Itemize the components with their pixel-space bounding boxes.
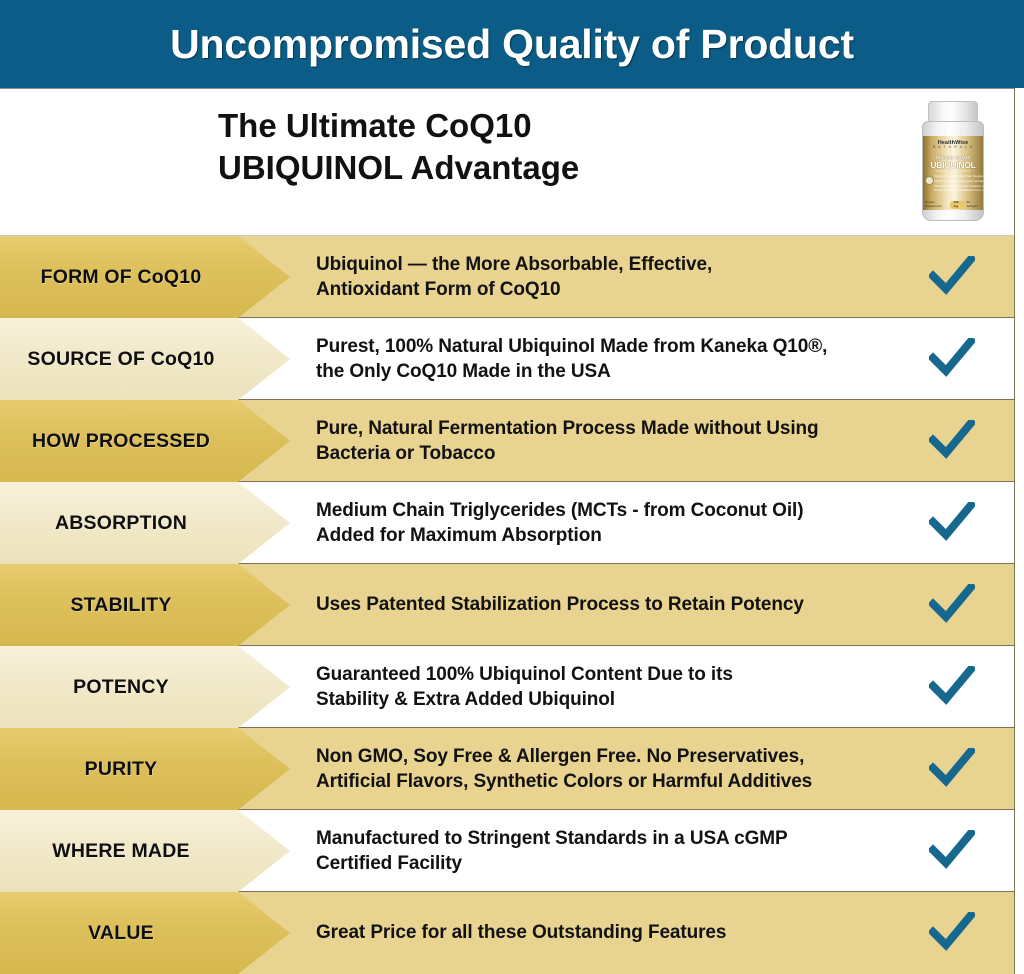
feature-description-line: Manufactured to Stringent Standards in a… [316, 826, 904, 851]
feature-description-line: Purest, 100% Natural Ubiquinol Made from… [316, 334, 904, 359]
label-bullet: Powerful Active Antioxidant Form of CoQ1… [934, 188, 980, 193]
feature-description-line: Pure, Natural Fermentation Process Made … [316, 416, 904, 441]
label-count: 60 Softgels [966, 201, 981, 208]
label-supplement-facts: Dietary Supplement [925, 201, 950, 208]
feature-description-line: Uses Patented Stabilization Process to R… [316, 592, 904, 617]
feature-label: SOURCE OF CoQ10 [27, 348, 214, 371]
feature-label: VALUE [88, 922, 154, 945]
feature-description-line: Artificial Flavors, Synthetic Colors or … [316, 769, 904, 794]
feature-label: HOW PROCESSED [32, 430, 210, 453]
check-mark-icon [922, 810, 982, 892]
feature-description-line: Ubiquinol — the More Absorbable, Effecti… [316, 252, 904, 277]
label-product-name: Ultimate CoQ10 UBIQUINOL Ultimate Absorp… [923, 156, 983, 174]
feature-description: Manufactured to Stringent Standards in a… [316, 810, 904, 892]
feature-description-line: Bacteria or Tobacco [316, 441, 904, 466]
feature-description: Medium Chain Triglycerides (MCTs - from … [316, 482, 904, 564]
page-title: Uncompromised Quality of Product [170, 24, 854, 65]
check-mark-icon [922, 728, 982, 810]
feature-description: Guaranteed 100% Ubiquinol Content Due to… [316, 646, 904, 728]
feature-description: Great Price for all these Outstanding Fe… [316, 892, 904, 974]
label-bullet: MCTs for Further Absorption Enhancement [934, 179, 980, 184]
feature-label: PURITY [85, 758, 158, 781]
feature-row: PURITY Non GMO, Soy Free & Allergen Free… [0, 728, 1024, 810]
feature-row: ABSORPTION Medium Chain Triglycerides (M… [0, 482, 1024, 564]
feature-description-line: Added for Maximum Absorption [316, 523, 904, 548]
feature-description-line: Antioxidant Form of CoQ10 [316, 277, 904, 302]
feature-description-line: Medium Chain Triglycerides (MCTs - from … [316, 498, 904, 523]
feature-description-line: Certified Facility [316, 851, 904, 876]
feature-tag: PURITY [0, 728, 290, 810]
check-mark-icon [922, 482, 982, 564]
feature-row: HOW PROCESSED Pure, Natural Fermentation… [0, 400, 1024, 482]
feature-row: FORM OF CoQ10 Ubiquinol — the More Absor… [0, 236, 1024, 318]
feature-tag: POTENCY [0, 646, 290, 728]
check-mark-icon [922, 892, 982, 974]
feature-row: VALUE Great Price for all these Outstand… [0, 892, 1024, 974]
label-strength: 100 mg [950, 201, 966, 209]
feature-tag: FORM OF CoQ10 [0, 236, 290, 318]
feature-description-line: the Only CoQ10 Made in the USA [316, 359, 904, 384]
feature-tag: HOW PROCESSED [0, 400, 290, 482]
hero-section: The Ultimate CoQ10 UBIQUINOL Advantage H… [0, 88, 1024, 236]
feature-description-line: Stability & Extra Added Ubiquinol [316, 687, 904, 712]
label-bullets: Higher Bioavailability Than Regular CoQ1… [934, 174, 980, 193]
supplement-bottle-icon: HealthWise N A T U R A L S Ultimate CoQ1… [920, 101, 986, 223]
bottle-label: HealthWise N A T U R A L S Ultimate CoQ1… [923, 136, 983, 210]
feature-label: WHERE MADE [52, 840, 189, 863]
label-brand: HealthWise N A T U R A L S [923, 140, 983, 150]
feature-rows: FORM OF CoQ10 Ubiquinol — the More Absor… [0, 236, 1024, 974]
feature-description: Pure, Natural Fermentation Process Made … [316, 400, 904, 482]
hero-title-line-2: UBIQUINOL Advantage [218, 147, 858, 189]
feature-tag: ABSORPTION [0, 482, 290, 564]
infographic-root: Uncompromised Quality of Product The Ult… [0, 0, 1024, 974]
feature-description: Non GMO, Soy Free & Allergen Free. No Pr… [316, 728, 904, 810]
feature-label: POTENCY [73, 676, 169, 699]
check-mark-icon [922, 400, 982, 482]
feature-label: ABSORPTION [55, 512, 187, 535]
bottle-cap [928, 101, 978, 123]
product-bottle-image: HealthWise N A T U R A L S Ultimate CoQ1… [908, 97, 1004, 229]
feature-description: Purest, 100% Natural Ubiquinol Made from… [316, 318, 904, 400]
feature-label: FORM OF CoQ10 [41, 266, 202, 289]
feature-tag: STABILITY [0, 564, 290, 646]
check-mark-icon [922, 318, 982, 400]
feature-row: WHERE MADE Manufactured to Stringent Sta… [0, 810, 1024, 892]
feature-label: STABILITY [70, 594, 171, 617]
feature-description-line: Great Price for all these Outstanding Fe… [316, 920, 904, 945]
check-mark-icon [922, 564, 982, 646]
feature-row: STABILITY Uses Patented Stabilization Pr… [0, 564, 1024, 646]
feature-tag: WHERE MADE [0, 810, 290, 892]
label-footer: Dietary Supplement 100 mg 60 Softgels [925, 201, 981, 209]
feature-description-line: Guaranteed 100% Ubiquinol Content Due to… [316, 662, 904, 687]
bottle-body: HealthWise N A T U R A L S Ultimate CoQ1… [922, 121, 984, 221]
feature-tag: SOURCE OF CoQ10 [0, 318, 290, 400]
label-seal-icon [925, 176, 934, 185]
label-brand-sub: N A T U R A L S [923, 146, 983, 150]
check-mark-icon [922, 646, 982, 728]
feature-row: POTENCY Guaranteed 100% Ubiquinol Conten… [0, 646, 1024, 728]
header-band: Uncompromised Quality of Product [0, 0, 1024, 88]
check-mark-icon [922, 236, 982, 318]
hero-title: The Ultimate CoQ10 UBIQUINOL Advantage [218, 105, 858, 189]
feature-description-line: Non GMO, Soy Free & Allergen Free. No Pr… [316, 744, 904, 769]
hero-title-line-1: The Ultimate CoQ10 [218, 105, 858, 147]
feature-description: Uses Patented Stabilization Process to R… [316, 564, 904, 646]
feature-description: Ubiquinol — the More Absorbable, Effecti… [316, 236, 904, 318]
feature-tag: VALUE [0, 892, 290, 974]
feature-row: SOURCE OF CoQ10 Purest, 100% Natural Ubi… [0, 318, 1024, 400]
